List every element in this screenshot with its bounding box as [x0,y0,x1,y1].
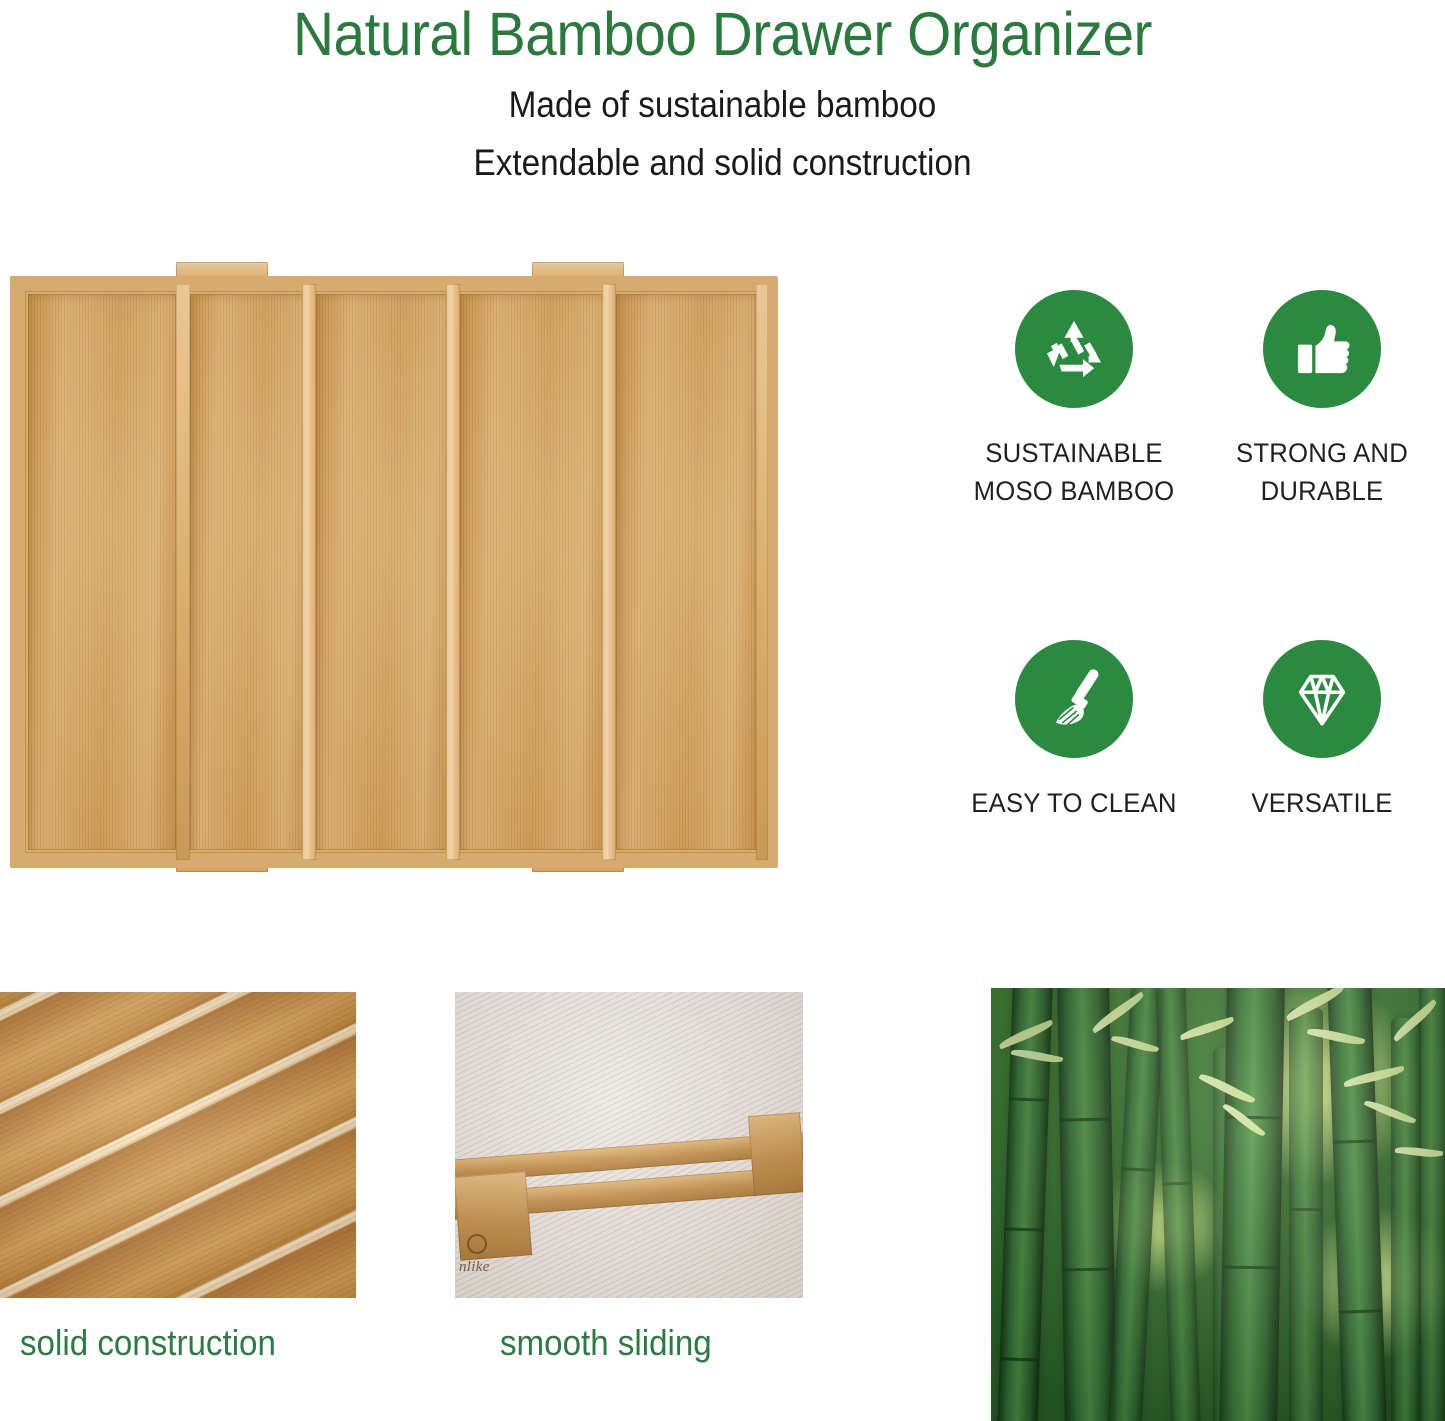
compartment-3 [316,294,450,850]
feature-label-line-1: VERSATILE [1211,785,1432,823]
feature-strong-and-durable: STRONG AND DURABLE [1208,290,1436,510]
feature-label-line-1: STRONG AND [1211,435,1432,473]
photo-shading [455,992,803,1298]
feature-label-sustainable: SUSTAINABLE MOSO BAMBOO [963,435,1184,510]
feature-label-clean: EASY TO CLEAN [963,785,1184,823]
page-title: Natural Bamboo Drawer Organizer [51,0,1395,66]
caption-smooth-sliding: smooth sliding [500,1322,712,1364]
compartment-2 [190,294,308,850]
feature-label-line-1: SUSTAINABLE [963,435,1184,473]
inner-tray-left-wall [176,284,190,860]
divider-2-3 [302,284,316,860]
broom-icon-badge [1015,640,1133,758]
compartment-4 [460,294,606,850]
compartment-1 [28,294,176,850]
recycle-icon-badge [1015,290,1133,408]
feature-label-strong: STRONG AND DURABLE [1211,435,1432,510]
header-block: Natural Bamboo Drawer Organizer Made of … [0,0,1445,200]
subtitle-line-2: Extendable and solid construction [72,136,1373,190]
feature-label-versatile: VERSATILE [1211,785,1432,823]
divider-4-5 [602,284,616,860]
inner-tray-right-wall [756,284,768,860]
recycle-icon [1038,313,1110,385]
thumbs-up-icon [1287,314,1357,384]
caption-solid-construction: solid construction [20,1322,276,1364]
feature-label-line-2: MOSO BAMBOO [963,473,1184,511]
thumbs-up-icon-badge [1263,290,1381,408]
compartment-5 [616,294,756,850]
feature-grid: SUSTAINABLE MOSO BAMBOO STRONG AND DURAB… [960,290,1445,870]
broom-icon [1038,663,1110,735]
feature-label-line-2: DURABLE [1211,473,1432,511]
diamond-icon-badge [1263,640,1381,758]
detail-photo-solid-construction [0,992,356,1298]
subtitle-line-1: Made of sustainable bamboo [72,78,1373,132]
feature-label-line-1: EASY TO CLEAN [963,785,1184,823]
hero-product-image [8,262,780,872]
detail-photo-smooth-sliding: nlike [455,992,803,1298]
feature-easy-to-clean: EASY TO CLEAN [960,640,1188,823]
photo-haze [991,988,1445,1421]
bamboo-grove-photo [991,988,1445,1421]
divider-3-4 [446,284,460,860]
feature-versatile: VERSATILE [1208,640,1436,823]
diamond-icon [1286,663,1358,735]
photo-shading [0,992,356,1298]
feature-sustainable-moso-bamboo: SUSTAINABLE MOSO BAMBOO [960,290,1188,510]
